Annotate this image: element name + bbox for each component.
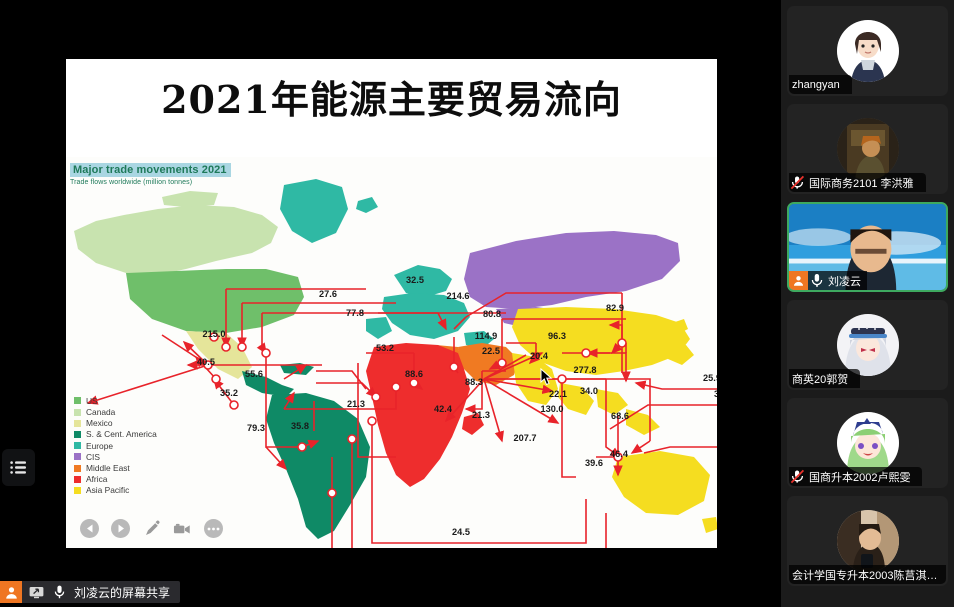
screen-share-icon bbox=[27, 586, 45, 599]
participant-name-chip: 国际商务2101 李洪雅 bbox=[789, 173, 920, 192]
flow-value-label: 21.3 bbox=[347, 399, 365, 409]
participant-tile[interactable]: 国商升本2002卢熙雯 bbox=[787, 398, 948, 488]
participant-name-bar: zhangyan bbox=[789, 75, 852, 94]
screen-share-status-bar: 刘凌云的屏幕共享 bbox=[0, 581, 180, 603]
ellipsis-icon bbox=[207, 527, 220, 531]
participant-name: 国商升本2002卢熙雯 bbox=[806, 469, 910, 485]
previous-slide-button[interactable] bbox=[80, 519, 99, 538]
legend-label: CIS bbox=[86, 452, 100, 462]
participant-tile[interactable]: zhangyan bbox=[787, 6, 948, 96]
person-icon bbox=[0, 581, 22, 603]
microphone-icon bbox=[808, 273, 825, 288]
flow-value-label: 32.5 bbox=[406, 275, 424, 285]
zoom-meeting-window: 2021年能源主要贸易流向 Major trade movements 2021… bbox=[0, 0, 954, 607]
annotate-button[interactable] bbox=[142, 519, 161, 538]
legend-item: Asia Pacific bbox=[74, 485, 157, 496]
participant-name-chip: 商英20郭贺 bbox=[789, 369, 854, 388]
flow-value-label: 68.6 bbox=[611, 411, 629, 421]
flow-value-label: 22.1 bbox=[549, 389, 567, 399]
legend-item: Mexico bbox=[74, 418, 157, 429]
list-icon bbox=[10, 461, 27, 474]
participant-name-bar: 商英20郭贺 bbox=[789, 369, 860, 388]
participant-name: 国际商务2101 李洪雅 bbox=[806, 175, 914, 191]
legend-swatch bbox=[74, 431, 81, 438]
legend-item: Canada bbox=[74, 407, 157, 418]
legend-label: Asia Pacific bbox=[86, 485, 129, 495]
shared-screen-stage[interactable]: 2021年能源主要贸易流向 Major trade movements 2021… bbox=[0, 0, 781, 607]
flow-value-label: 215.0 bbox=[203, 329, 226, 339]
flow-value-label: 80.8 bbox=[483, 309, 501, 319]
flow-value-label: 62.6 bbox=[435, 547, 453, 548]
participant-tile[interactable]: 会计学国专升本2003陈莒淇2... bbox=[787, 496, 948, 586]
participants-panel-toggle[interactable] bbox=[2, 449, 35, 486]
flow-value-label: 130.0 bbox=[541, 404, 564, 414]
microphone-muted-icon bbox=[789, 175, 806, 190]
map-heading-subtitle: Trade flows worldwide (million tonnes) bbox=[70, 179, 231, 186]
participant-name: zhangyan bbox=[789, 79, 840, 91]
map-graphic: 215.040.555.635.279.335.827.632.577.8214… bbox=[66, 157, 717, 548]
flow-value-label: 46.4 bbox=[610, 449, 629, 459]
flow-value-label: 96.3 bbox=[548, 331, 566, 341]
legend-item: S. & Cent. America bbox=[74, 429, 157, 440]
microphone-muted-icon bbox=[790, 175, 805, 190]
flow-value-label: 114.9 bbox=[475, 331, 497, 341]
participant-tile[interactable]: 刘凌云 bbox=[787, 202, 948, 292]
microphone-icon bbox=[811, 273, 823, 288]
participant-name: 会计学国专升本2003陈莒淇2... bbox=[789, 567, 940, 583]
avatar bbox=[837, 412, 899, 474]
participant-name: 刘凌云 bbox=[825, 273, 861, 289]
participant-rail[interactable]: zhangyan 国际商务2101 李洪雅 刘凌 bbox=[781, 0, 954, 607]
video-button[interactable] bbox=[173, 519, 192, 538]
flow-value-label: 27.6 bbox=[319, 289, 337, 299]
legend-swatch bbox=[74, 465, 81, 472]
more-options-button[interactable] bbox=[204, 519, 223, 538]
participant-tile[interactable]: 商英20郭贺 bbox=[787, 300, 948, 390]
flow-value-label: 22.5 bbox=[482, 346, 500, 356]
chevron-right-icon bbox=[117, 524, 125, 533]
participant-tile[interactable]: 国际商务2101 李洪雅 bbox=[787, 104, 948, 194]
flow-value-label: 20.4 bbox=[530, 351, 549, 361]
flow-value-label: 88.3 bbox=[465, 377, 483, 387]
participant-name-bar: 会计学国专升本2003陈莒淇2... bbox=[789, 565, 948, 584]
legend-swatch bbox=[74, 397, 81, 404]
flow-value-label: 214.6 bbox=[447, 291, 470, 301]
flow-value-label: 53.2 bbox=[376, 343, 394, 353]
flow-value-label: 42.4 bbox=[434, 404, 453, 414]
legend-swatch bbox=[74, 442, 81, 449]
pencil-icon bbox=[143, 520, 161, 538]
video-camera-icon bbox=[173, 522, 192, 536]
flow-value-label: 24.5 bbox=[452, 527, 470, 537]
flow-value-label: 39.6 bbox=[585, 458, 603, 468]
map-legend: USCanadaMexicoS. & Cent. AmericaEuropeCI… bbox=[74, 395, 157, 496]
flow-value-label: 88.6 bbox=[405, 369, 423, 379]
legend-item: CIS bbox=[74, 451, 157, 462]
legend-swatch bbox=[74, 409, 81, 416]
legend-swatch bbox=[74, 476, 81, 483]
chevron-left-icon bbox=[86, 524, 94, 533]
legend-item: Middle East bbox=[74, 462, 157, 473]
legend-item: Africa bbox=[74, 474, 157, 485]
flow-value-label: 79.3 bbox=[247, 423, 265, 433]
map-heading-title: Major trade movements 2021 bbox=[70, 163, 231, 177]
flow-value-label: 77.8 bbox=[346, 308, 364, 318]
legend-label: S. & Cent. America bbox=[86, 429, 157, 439]
host-person-icon bbox=[789, 271, 808, 290]
participant-name-chip: 会计学国专升本2003陈莒淇2... bbox=[789, 565, 946, 584]
legend-label: Mexico bbox=[86, 418, 113, 428]
slide-title: 2021年能源主要贸易流向 bbox=[66, 81, 717, 119]
flow-value-label: 82.9 bbox=[606, 303, 624, 313]
participant-name: 商英20郭贺 bbox=[789, 371, 848, 387]
flow-value-label: 30.1 bbox=[714, 389, 717, 399]
presentation-slide[interactable]: 2021年能源主要贸易流向 Major trade movements 2021… bbox=[66, 59, 717, 548]
microphone-muted-icon bbox=[789, 469, 806, 484]
flow-value-label: 277.8 bbox=[574, 365, 597, 375]
legend-swatch bbox=[74, 420, 81, 427]
participant-name-bar: 国商升本2002卢熙雯 bbox=[789, 467, 922, 486]
legend-label: Canada bbox=[86, 407, 115, 417]
flow-value-label: 207.7 bbox=[514, 433, 537, 443]
legend-label: Africa bbox=[86, 474, 107, 484]
flow-value-label: 34.0 bbox=[580, 386, 598, 396]
participant-name-chip: 刘凌云 bbox=[808, 271, 867, 290]
microphone-icon bbox=[50, 585, 68, 599]
map-heading: Major trade movements 2021 Trade flows w… bbox=[70, 160, 231, 186]
avatar bbox=[837, 118, 899, 180]
participant-name-chip: zhangyan bbox=[789, 75, 846, 94]
avatar bbox=[837, 314, 899, 376]
participant-name-chip: 国商升本2002卢熙雯 bbox=[789, 467, 916, 486]
microphone-muted-icon bbox=[790, 469, 805, 484]
legend-label: Middle East bbox=[86, 463, 130, 473]
avatar bbox=[837, 510, 899, 572]
legend-item: Europe bbox=[74, 440, 157, 451]
flow-value-label: 35.8 bbox=[291, 421, 309, 431]
participant-name-bar: 国际商务2101 李洪雅 bbox=[789, 173, 926, 192]
flow-value-label: 55.6 bbox=[245, 369, 263, 379]
flow-value-label: 40.5 bbox=[197, 357, 215, 367]
flow-value-label: 21.3 bbox=[472, 410, 490, 420]
legend-label: Europe bbox=[86, 441, 113, 451]
legend-label: US bbox=[86, 396, 98, 406]
legend-item: US bbox=[74, 395, 157, 406]
legend-swatch bbox=[74, 453, 81, 460]
avatar bbox=[837, 20, 899, 82]
world-trade-map: Major trade movements 2021 Trade flows w… bbox=[66, 157, 717, 548]
slide-toolbar[interactable] bbox=[80, 519, 223, 538]
legend-swatch bbox=[74, 487, 81, 494]
flow-value-label: 35.2 bbox=[220, 388, 238, 398]
next-slide-button[interactable] bbox=[111, 519, 130, 538]
flow-value-label: 25.9 bbox=[703, 373, 717, 383]
participant-name-bar: 刘凌云 bbox=[789, 271, 873, 290]
screen-share-status-text: 刘凌云的屏幕共享 bbox=[74, 584, 170, 601]
